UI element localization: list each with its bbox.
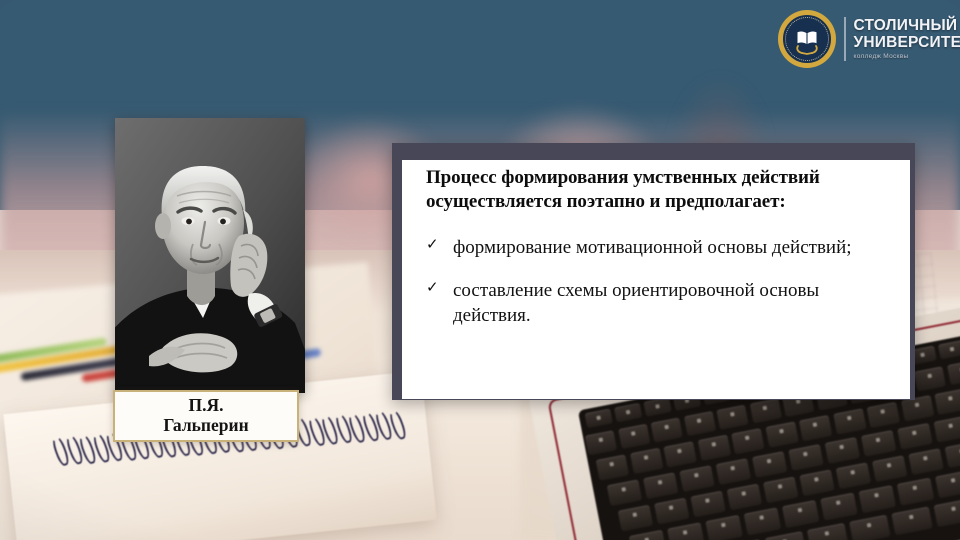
logo-subtitle: колледж Москвы xyxy=(854,53,960,60)
logo-divider xyxy=(844,17,846,61)
university-seal-icon xyxy=(778,10,836,68)
list-item-label: формирование мотивационной основы действ… xyxy=(453,235,852,260)
logo-text-block: СТОЛИЧНЫЙ УНИВЕРСИТЕТ колледж Москвы xyxy=(854,18,960,60)
university-logo: СТОЛИЧНЫЙ УНИВЕРСИТЕТ колледж Москвы xyxy=(778,6,960,72)
content-heading: Процесс формирования умственных действий… xyxy=(426,166,894,215)
list-item: ✓ формирование мотивационной основы дейс… xyxy=(426,235,894,260)
logo-line-2: УНИВЕРСИТЕТ xyxy=(854,35,960,51)
portrait-nameplate: П.Я. Гальперин xyxy=(113,390,299,442)
nameplate-line-1: П.Я. xyxy=(189,396,224,416)
nameplate-line-2: Гальперин xyxy=(163,416,248,436)
checkmark-icon: ✓ xyxy=(426,278,442,300)
content-bullet-list: ✓ формирование мотивационной основы дейс… xyxy=(426,235,894,328)
portrait-photo xyxy=(115,118,305,393)
checkmark-icon: ✓ xyxy=(426,235,442,257)
content-text-block: Процесс формирования умственных действий… xyxy=(402,166,912,328)
list-item: ✓ составление схемы ориентировочной осно… xyxy=(426,278,894,328)
logo-line-1: СТОЛИЧНЫЙ xyxy=(854,18,960,34)
list-item-label: составление схемы ориентировочной основы… xyxy=(453,278,894,328)
